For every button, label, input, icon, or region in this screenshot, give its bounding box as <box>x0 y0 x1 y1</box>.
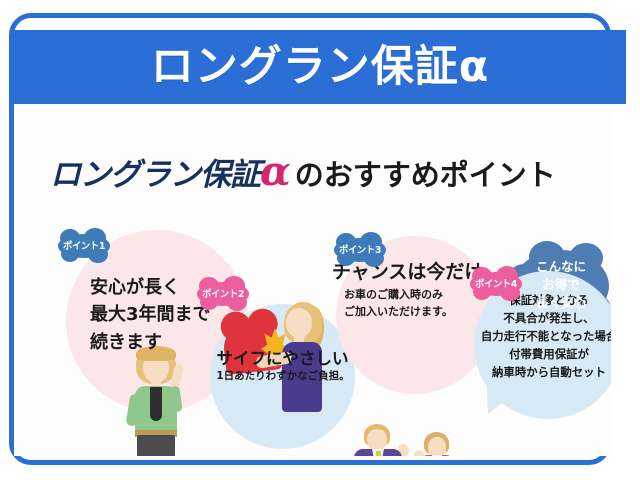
point-1-line-3: 続きます <box>90 329 211 356</box>
tagline-text: こんなに お得で 長く安心 <box>513 258 609 311</box>
point-2-badge: ポイント2 <box>197 282 249 306</box>
point-2-subtitle: 1日あたりわずかなご負担。 <box>202 370 364 384</box>
point-4-badge-label: ポイント4 <box>470 276 522 290</box>
point-2-title: サイフにやさしい <box>210 349 355 369</box>
inner-top-shape <box>150 387 162 421</box>
headline-alpha: α <box>260 148 291 195</box>
point-1-badge: ポイント1 <box>58 234 110 258</box>
woman-face-shape <box>428 437 446 456</box>
point-4-line-4: 付帯費用保証が <box>464 345 611 363</box>
point-1-line-2: 最大3年間まで <box>90 301 211 328</box>
point-3-sub-line-1: お車のご購入時のみ <box>344 286 453 303</box>
point-4-line-3: 自力走行不能となった場合 <box>464 327 611 345</box>
point-3-title: チャンスは今だけ <box>332 261 483 284</box>
face-shape <box>286 308 312 338</box>
point-3-subtitle: お車のご購入時のみ ご加入いただけます。 <box>344 286 453 320</box>
headline: ロングラン保証αのおすすめポイント <box>50 152 556 192</box>
tagline-line-1: こんなに <box>513 258 609 276</box>
illustration-couple-at-table <box>336 422 476 456</box>
tagline-cloud-bubble: こんなに お得で 長く安心 <box>513 250 609 322</box>
point-4-line-2: 不具合が発生し、 <box>464 309 611 327</box>
poster-content: ロングラン保証αのおすすめポイント こんなに お得で 長く安心 <box>14 104 611 456</box>
point-3-sub-line-2: ご加入いただけます。 <box>344 303 453 320</box>
tagline-line-3: 長く安心 <box>513 294 609 312</box>
point-3-badge: ポイント3 <box>334 238 386 262</box>
woman-inner-shape <box>432 455 442 456</box>
point-2-badge-wrap: ポイント2 <box>197 282 249 306</box>
headline-brand: ロングラン保証 <box>50 157 260 193</box>
promo-poster: ロングラン保証α ロングラン保証αのおすすめポイント こんなに お得で 長く安心 <box>0 0 640 480</box>
header-banner: ロングラン保証α <box>14 30 626 104</box>
tagline-line-2: お得で <box>513 276 609 294</box>
point-1-text: 安心が長く 最大3年間まで 続きます <box>90 274 211 356</box>
point-1-badge-label: ポイント1 <box>58 238 110 252</box>
skirt-shape <box>137 435 175 456</box>
man-face-shape <box>367 429 387 451</box>
illustration-woman-green-cardigan <box>122 346 190 456</box>
point-4-line-5: 納車時から自動セット <box>464 363 611 381</box>
headline-suffix: のおすすめポイント <box>295 158 556 192</box>
point-3-badge-wrap: ポイント3 <box>334 238 386 262</box>
point-1-badge-wrap: ポイント1 <box>58 234 110 258</box>
header-title: ロングラン保証α <box>151 46 490 89</box>
point-3-badge-label: ポイント3 <box>334 242 386 256</box>
man-tie-shape <box>376 451 381 456</box>
point-1-line-1: 安心が長く <box>90 274 211 301</box>
point-2-badge-label: ポイント2 <box>197 286 249 300</box>
